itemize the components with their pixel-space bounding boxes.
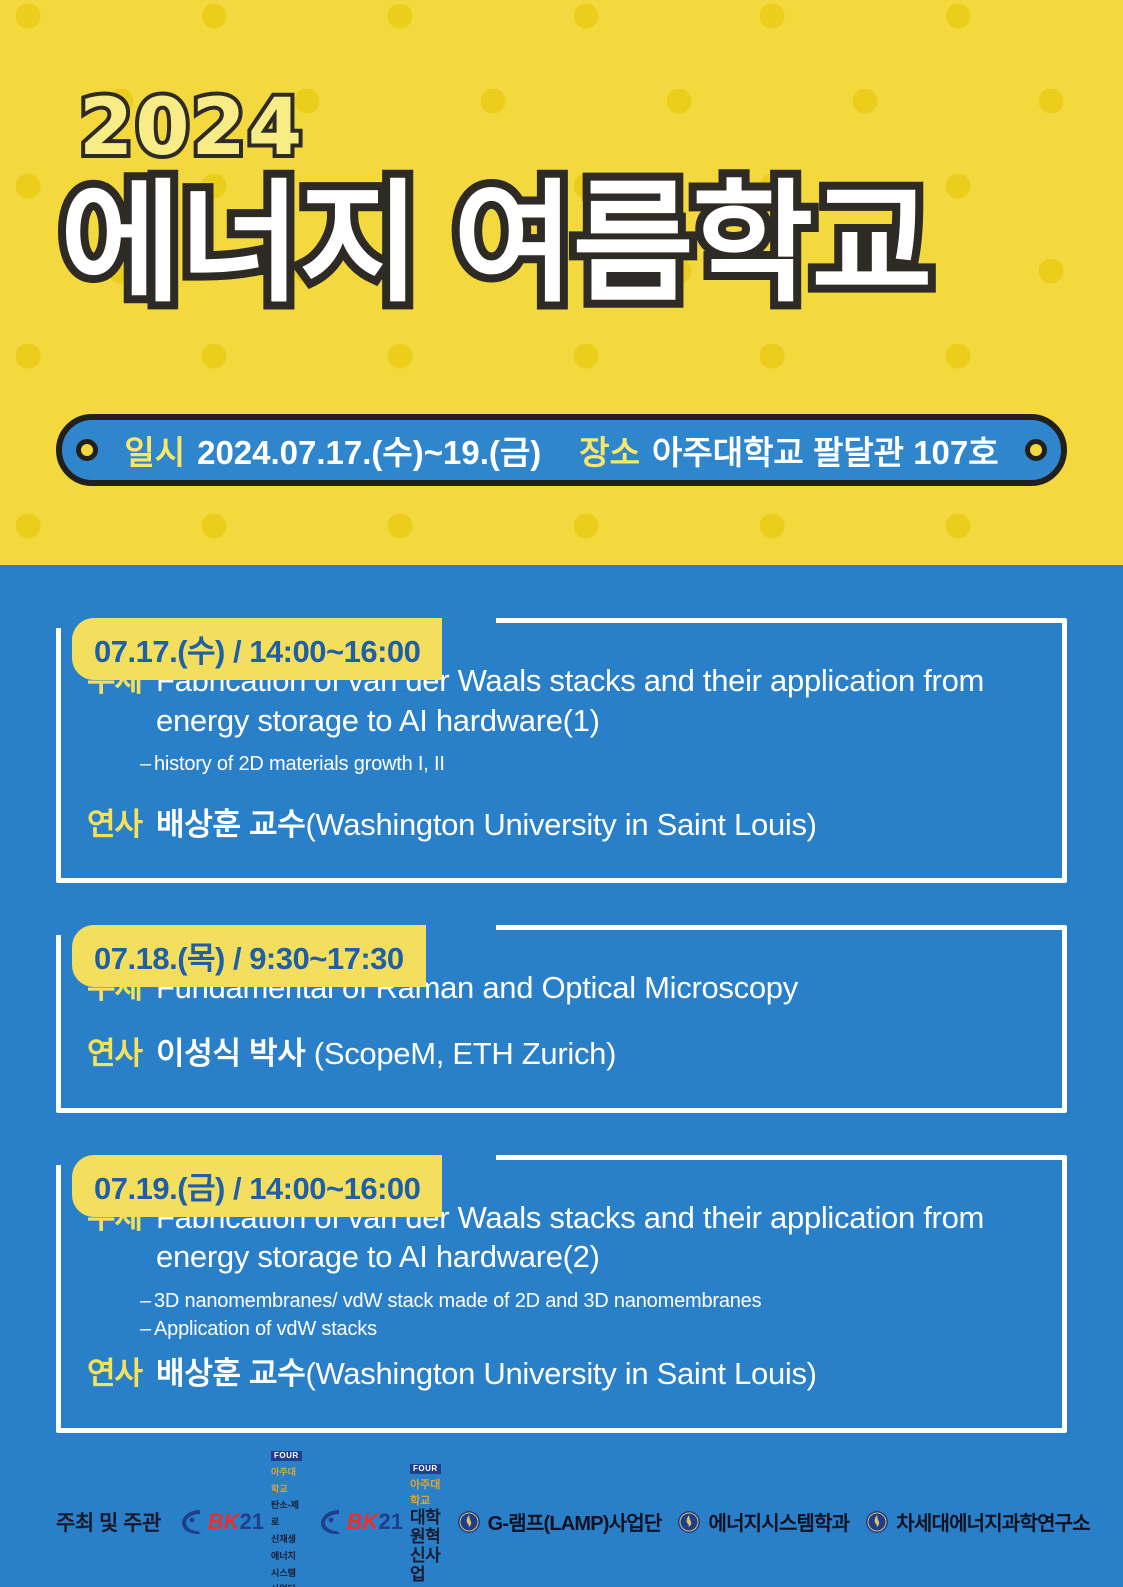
- hero-title: 에너지 여름학교: [60, 178, 1070, 310]
- poster-root: 2024 에너지 여름학교 일시 2024.07.17.(수)~19.(금) 장…: [0, 0, 1123, 1587]
- org-name-lamp: G-램프(LAMP)사업단: [488, 1507, 662, 1536]
- pill-dot-left-icon: [76, 439, 98, 461]
- bk21-line2-2: 대학원혁신사업: [410, 1508, 440, 1583]
- bk21-mark-2: BK21: [347, 1511, 403, 1533]
- bk21-caption-1: FOUR 아주대학교 탄소-제로 신재생에너지시스템사업단: [271, 1446, 302, 1587]
- bk21-line1-1: 아주대학교: [271, 1467, 296, 1494]
- bk21-mark-1: BK21: [208, 1511, 264, 1533]
- ajou-seal-icon: [457, 1510, 481, 1534]
- session-3-bullet-1-text: 3D nanomembranes/ vdW stack made of 2D a…: [154, 1290, 761, 1312]
- hero-banner: 2024 에너지 여름학교 일시 2024.07.17.(수)~19.(금) 장…: [0, 0, 1123, 565]
- logo-strip: BK21 FOUR 아주대학교 탄소-제로 신재생에너지시스템사업단: [179, 1446, 1090, 1587]
- org-logo-research-institute: 차세대에너지과학연구소: [865, 1507, 1090, 1536]
- bk21-bk-text-2: BK: [347, 1511, 379, 1533]
- bk21-four-badge-1: FOUR: [271, 1451, 302, 1461]
- session-3-date-tag: 07.19.(금) / 14:00~16:00: [72, 1155, 442, 1217]
- session-2-speaker-row: 연사 이성식 박사 (ScopeM, ETH Zurich): [87, 1034, 1036, 1074]
- session-2-speaker-value: 이성식 박사 (ScopeM, ETH Zurich): [156, 1034, 616, 1074]
- session-3-bullets: –3D nanomembranes/ vdW stack made of 2D …: [140, 1287, 1036, 1344]
- info-bar-content: 일시 2024.07.17.(수)~19.(금) 장소 아주대학교 팔달관 10…: [98, 426, 1025, 474]
- session-1-bullet-1: –history of 2D materials growth I, II: [140, 750, 1036, 778]
- bk21-head-icon: [179, 1507, 205, 1537]
- session-card-1: 07.17.(수) / 14:00~16:00 주제 Fabrication o…: [56, 618, 1067, 883]
- session-1-bullet-1-text: history of 2D materials growth I, II: [154, 753, 445, 775]
- footer: 주최 및 주관 BK21 FOUR 아주대학교 탄소-제로 신재: [56, 1446, 1086, 1587]
- session-3-topic-line2: energy storage to AI hardware(2): [156, 1239, 600, 1274]
- org-name-energy-dept: 에너지시스템학과: [708, 1507, 849, 1536]
- session-2-speaker-affiliation: (ScopeM, ETH Zurich): [314, 1036, 616, 1071]
- session-2-date-tag: 07.18.(목) / 9:30~17:30: [72, 925, 426, 987]
- hero-year: 2024: [79, 83, 304, 173]
- bk21-bk-text-1: BK: [208, 1511, 240, 1533]
- session-3-speaker-affiliation: (Washington University in Saint Louis): [305, 1356, 816, 1391]
- date-value: 2024.07.17.(수)~19.(금): [197, 426, 541, 474]
- org-name-research-institute: 차세대에너지과학연구소: [896, 1507, 1090, 1536]
- session-2-speaker-label: 연사: [87, 1034, 142, 1074]
- place-label: 장소: [579, 426, 640, 474]
- session-1-speaker-value: 배상훈 교수(Washington University in Saint Lo…: [156, 805, 817, 845]
- bk21-line3-1: 신재생에너지시스템사업단: [271, 1534, 296, 1587]
- bk21-21-text-1: 21: [240, 1511, 264, 1533]
- host-label: 주최 및 주관: [56, 1507, 161, 1537]
- bk21-logo-1: BK21 FOUR 아주대학교 탄소-제로 신재생에너지시스템사업단: [179, 1446, 302, 1587]
- bk21-line1-2: 아주대학교: [410, 1479, 440, 1508]
- session-1-bullets: –history of 2D materials growth I, II: [140, 750, 1036, 778]
- session-3-bullet-2: –Application of vdW stacks: [140, 1315, 1036, 1343]
- session-2-spacer: [87, 1008, 1036, 1034]
- ajou-seal-icon-3: [865, 1510, 889, 1534]
- session-list: 07.17.(수) / 14:00~16:00 주제 Fabrication o…: [0, 565, 1123, 1475]
- session-1-topic-line2: energy storage to AI hardware(1): [156, 703, 600, 738]
- session-card-3: 07.19.(금) / 14:00~16:00 주제 Fabrication o…: [56, 1155, 1067, 1433]
- bk21-line2-1: 탄소-제로: [271, 1500, 299, 1527]
- session-1-speaker-affiliation: (Washington University in Saint Louis): [305, 807, 816, 842]
- org-logo-energy-dept: 에너지시스템학과: [677, 1507, 849, 1536]
- bk21-four-badge-2: FOUR: [410, 1464, 441, 1474]
- session-1-speaker-label: 연사: [87, 805, 142, 845]
- bk21-logo-2: BK21 FOUR 아주대학교 대학원혁신사업: [318, 1459, 441, 1585]
- pill-dot-right-icon: [1025, 439, 1047, 461]
- date-label: 일시: [124, 426, 185, 474]
- session-3-speaker-name: 배상훈 교수: [156, 1356, 305, 1391]
- info-bar: 일시 2024.07.17.(수)~19.(금) 장소 아주대학교 팔달관 10…: [56, 414, 1067, 486]
- bk21-21-text-2: 21: [379, 1511, 403, 1533]
- bk21-head-icon-2: [318, 1507, 344, 1537]
- org-logo-lamp: G-램프(LAMP)사업단: [457, 1507, 662, 1536]
- bk21-caption-2: FOUR 아주대학교 대학원혁신사업: [410, 1459, 441, 1585]
- session-3-bullet-1: –3D nanomembranes/ vdW stack made of 2D …: [140, 1287, 1036, 1315]
- session-3-speaker-value: 배상훈 교수(Washington University in Saint Lo…: [156, 1354, 817, 1394]
- place-value: 아주대학교 팔달관 107호: [652, 426, 999, 474]
- session-1-speaker-name: 배상훈 교수: [156, 807, 305, 842]
- ajou-seal-icon-2: [677, 1510, 701, 1534]
- host-row: 주최 및 주관 BK21 FOUR 아주대학교 탄소-제로 신재: [56, 1446, 1086, 1587]
- session-1-spacer: [87, 779, 1036, 805]
- session-card-2: 07.18.(목) / 9:30~17:30 주제 Fundamental of…: [56, 925, 1067, 1112]
- session-1-speaker-row: 연사 배상훈 교수(Washington University in Saint…: [87, 805, 1036, 845]
- session-3-spacer: [87, 1344, 1036, 1354]
- session-3-speaker-row: 연사 배상훈 교수(Washington University in Saint…: [87, 1354, 1036, 1394]
- session-3-speaker-label: 연사: [87, 1354, 142, 1394]
- session-2-speaker-name: 이성식 박사: [156, 1036, 305, 1071]
- session-3-bullet-2-text: Application of vdW stacks: [154, 1318, 377, 1340]
- session-1-date-tag: 07.17.(수) / 14:00~16:00: [72, 618, 442, 680]
